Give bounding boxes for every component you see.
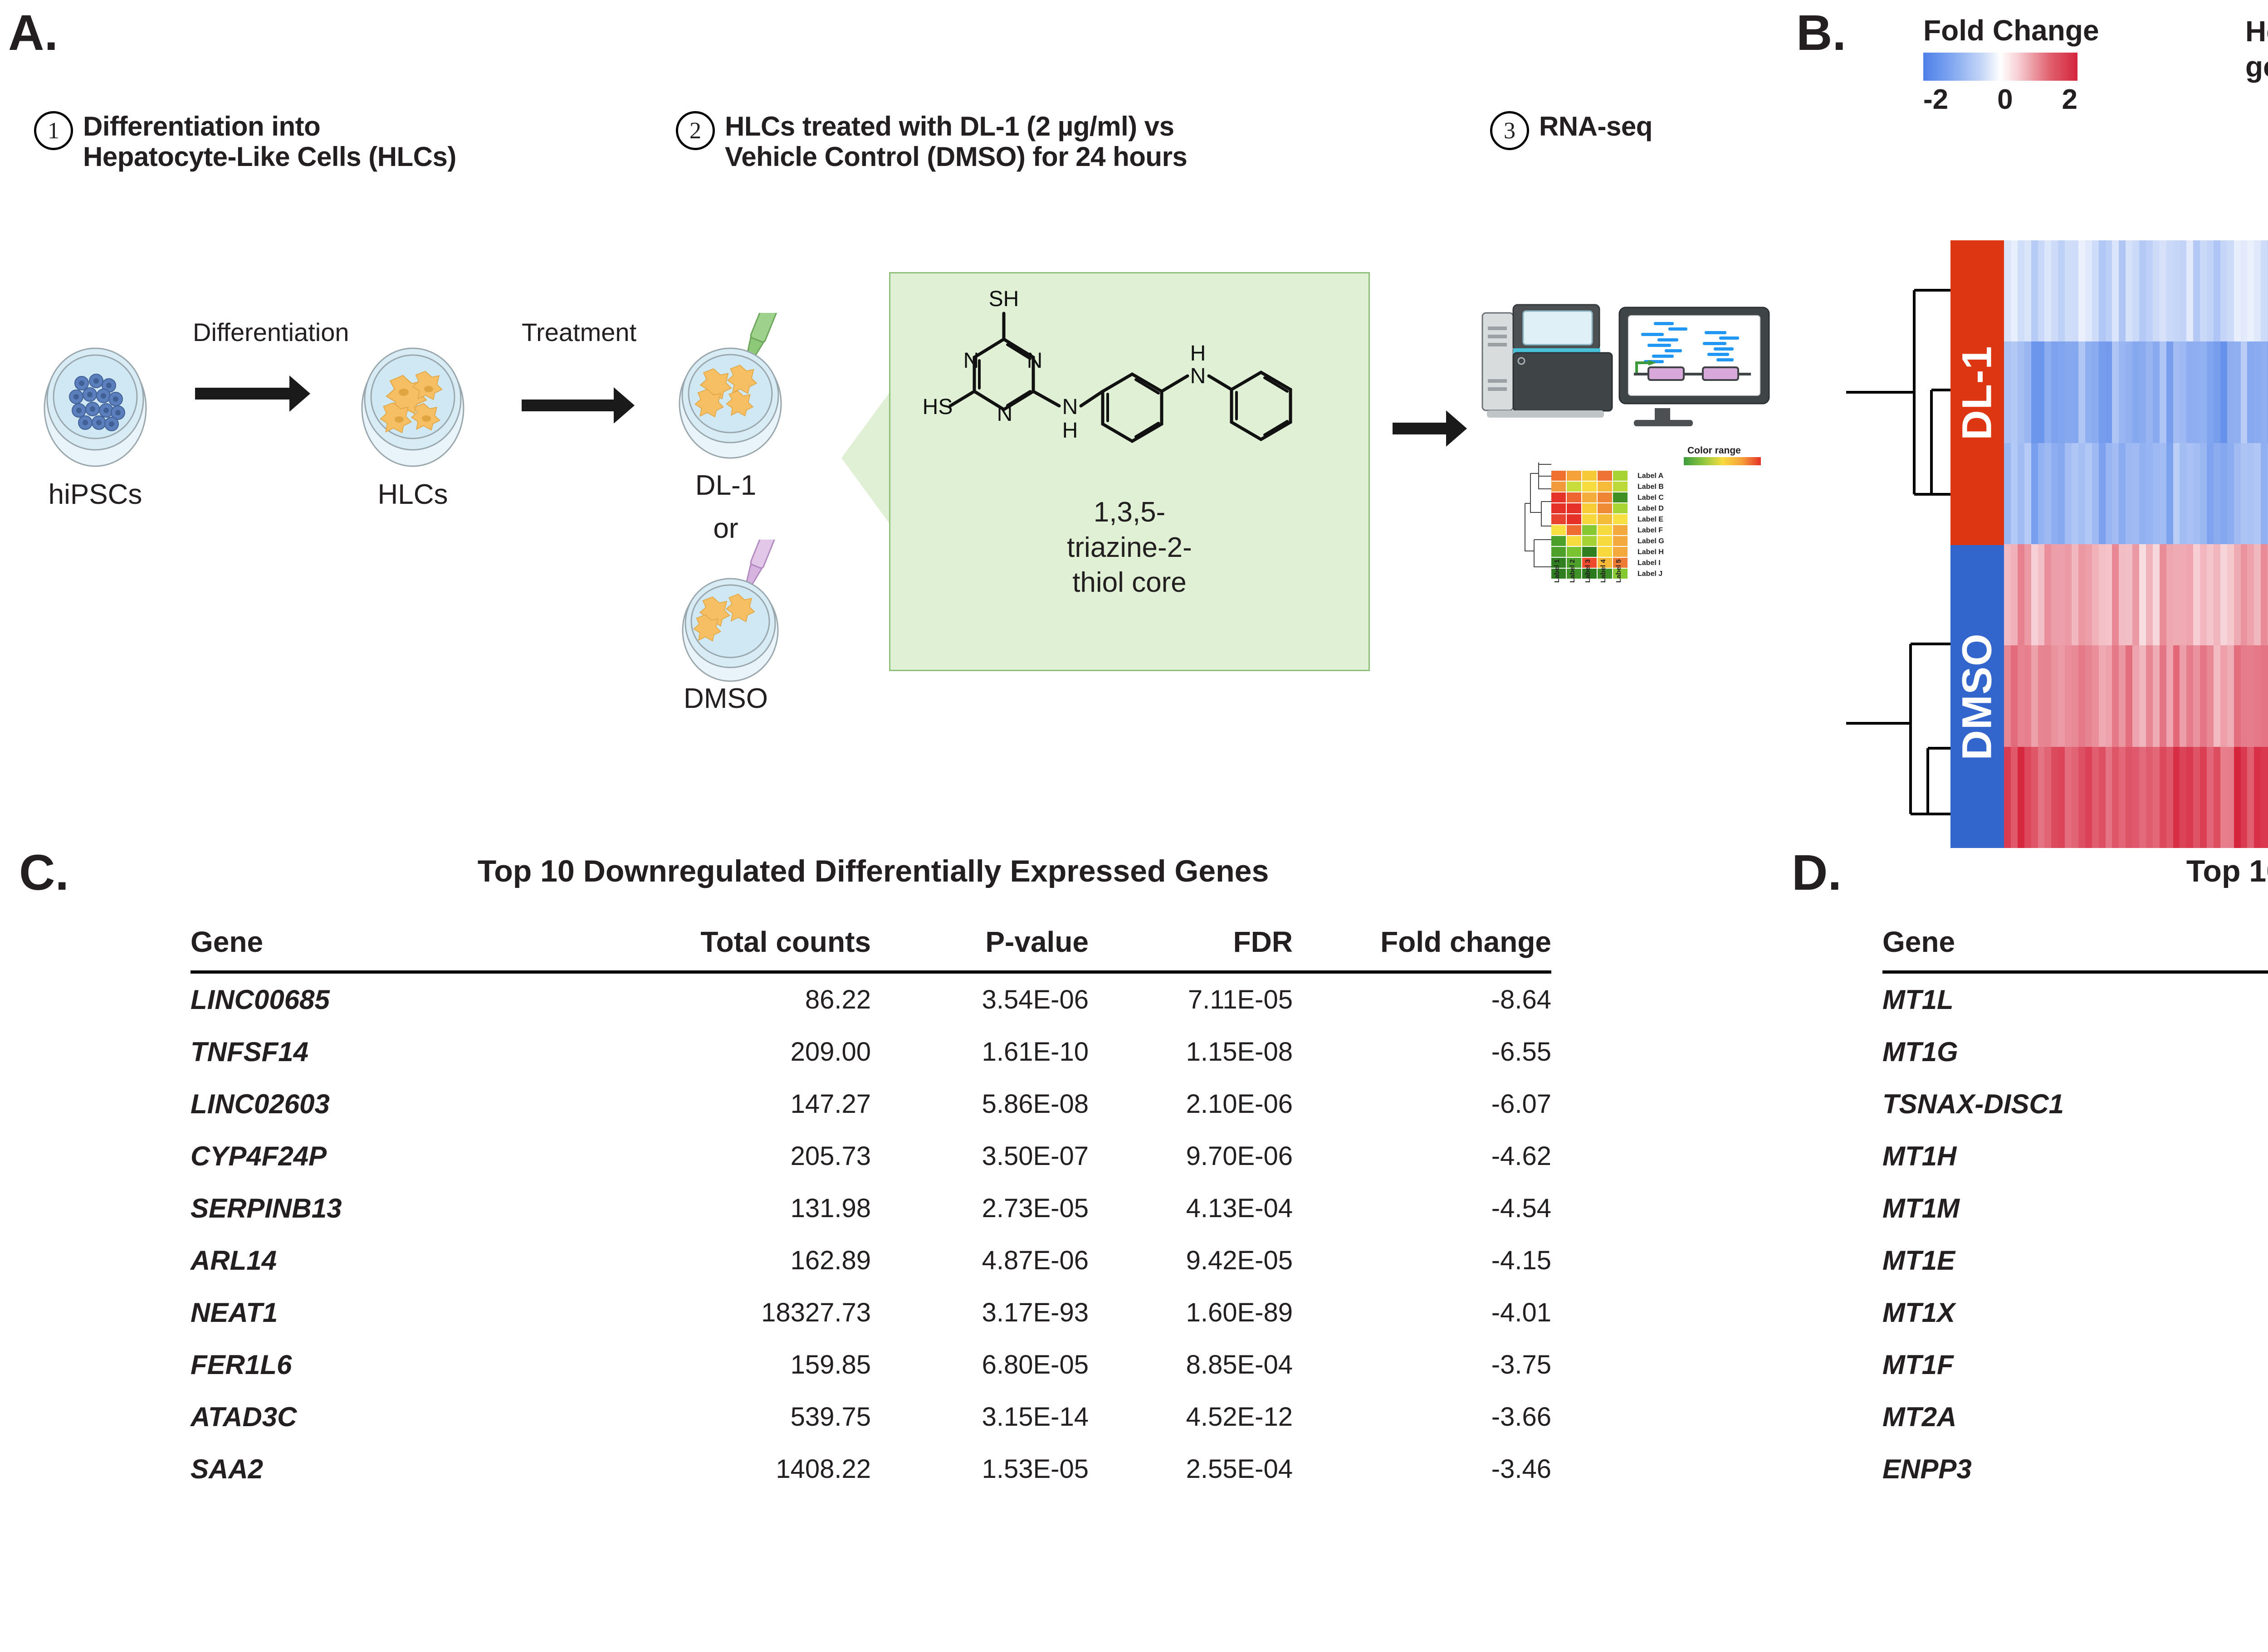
step-1-number: 1 <box>34 111 73 150</box>
table-row: MT1H695.402.51E-393.45E-3621.36 <box>1882 1130 2268 1182</box>
downregulated-table: Gene Total counts P-value FDR Fold chang… <box>191 925 1551 1495</box>
atom-sh-top: SH <box>989 287 1019 311</box>
table-row: SAA21408.221.53E-052.55E-04-3.46 <box>191 1443 1551 1495</box>
table-row: MT1E592.923.80E-262.73E-237.21 <box>1882 1234 2268 1287</box>
cell-gene: ENPP3 <box>1882 1443 2268 1495</box>
cell-fdr: 7.11E-05 <box>1089 972 1293 1026</box>
cell-fdr: 2.10E-06 <box>1089 1078 1293 1130</box>
dish-dl1 <box>644 313 835 467</box>
cell-total-counts: 131.98 <box>599 1182 871 1234</box>
step-3-text: RNA-seq <box>1539 111 1652 141</box>
panel-a-workflow: A. 1 Differentiation into Hepatocyte-Lik… <box>0 0 1814 816</box>
cell-gene: NEAT1 <box>191 1287 599 1339</box>
cell-fold-change: -4.15 <box>1293 1234 1551 1287</box>
dish-hlcs-label: HLCs <box>336 478 490 511</box>
atom-h-link: H <box>1062 419 1078 443</box>
dish-hipscs <box>18 336 172 472</box>
mini-heatmap-row-label: Label E <box>1637 516 1663 524</box>
heatmap-row <box>2004 341 2268 443</box>
mini-heatmap-legend-title: Color range <box>1687 445 1741 456</box>
cell-fdr: 2.55E-04 <box>1089 1443 1293 1495</box>
mini-heatmap-colorbar <box>1684 457 1761 465</box>
arrow-differentiation-label: Differentiation <box>193 317 349 347</box>
table-row: MT1X831.313.02E-333.51E-306.89 <box>1882 1287 2268 1339</box>
mini-heatmap-col-label: Label 3 <box>1584 559 1592 583</box>
cell-p-value: 3.15E-14 <box>871 1391 1089 1443</box>
mini-heatmap-row-label: Label G <box>1637 537 1664 546</box>
table-row: ARL14162.894.87E-069.42E-05-4.15 <box>191 1234 1551 1287</box>
table-row: ENPP3166.092.89E-065.99E-054.51 <box>1882 1443 2268 1495</box>
arrow-to-rnaseq-icon <box>1393 423 1447 434</box>
mini-heatmap-row-label: Label H <box>1637 548 1664 556</box>
mini-heatmap-row-label: Label D <box>1637 505 1664 513</box>
cell-fold-change: -6.07 <box>1293 1078 1551 1130</box>
panel-b-label: B. <box>1796 8 1846 58</box>
atom-n-bottom: N <box>997 402 1013 426</box>
table-row: MT2A2968.832.54E-769.60E-735.09 <box>1882 1391 2268 1443</box>
cell-fold-change: -3.66 <box>1293 1391 1551 1443</box>
cell-fdr: 1.60E-89 <box>1089 1287 1293 1339</box>
cell-p-value: 5.86E-08 <box>871 1078 1089 1130</box>
downregulated-table-title: Top 10 Downregulated Differentially Expr… <box>181 853 1565 889</box>
triazine-structure-icon: SH HS N N N N H N H <box>890 278 1371 491</box>
fold-change-legend: Fold Change -2 0 2 <box>1923 14 2099 116</box>
cell-total-counts: 147.27 <box>599 1078 871 1130</box>
cell-fold-change: -4.62 <box>1293 1130 1551 1182</box>
table-row: LINC02603147.275.86E-082.10E-06-6.07 <box>191 1078 1551 1130</box>
col-header-fdr: FDR <box>1089 925 1293 972</box>
heatmap-title: Heatmap showing 182 differentially expre… <box>2245 14 2268 84</box>
cell-fold-change: -8.64 <box>1293 972 1551 1026</box>
panel-d-label: D. <box>1792 848 1842 898</box>
petri-dish-icon <box>18 336 172 472</box>
col-header-gene: Gene <box>191 925 599 972</box>
table-row: LINC0068586.223.54E-067.11E-05-8.64 <box>191 972 1551 1026</box>
cell-fold-change: -4.54 <box>1293 1182 1551 1234</box>
cell-gene: TSNAX-DISC1 <box>1882 1078 2268 1130</box>
cell-p-value: 3.54E-06 <box>871 972 1089 1026</box>
heatmap-grid <box>2004 240 2268 848</box>
dish-dmso <box>644 540 835 694</box>
cell-gene: TNFSF14 <box>191 1026 599 1078</box>
cell-total-counts: 539.75 <box>599 1391 871 1443</box>
cell-fold-change: -6.55 <box>1293 1026 1551 1078</box>
cell-p-value: 6.80E-05 <box>871 1339 1089 1391</box>
mini-heatmap-row-label: Label J <box>1637 570 1662 578</box>
col-header-pvalue: P-value <box>871 925 1089 972</box>
fold-change-ticks: -2 0 2 <box>1923 83 2077 116</box>
dish-hipscs-label: hiPSCs <box>18 478 172 511</box>
group-band-dmso-label: DMSO <box>1954 633 2001 760</box>
cell-total-counts: 205.73 <box>599 1130 871 1182</box>
sample-dendrogram <box>1846 240 1950 848</box>
upregulated-table-title: Top 10 Upregulated Differentially Expres… <box>1873 853 2268 889</box>
panel-b-heatmap: B. Fold Change -2 0 2 Heatmap showing 18… <box>1792 0 2268 862</box>
mini-heatmap-row-label: Label B <box>1637 483 1664 491</box>
atom-n-left: N <box>963 349 979 373</box>
cell-fold-change: -3.75 <box>1293 1339 1551 1391</box>
cell-total-counts: 162.89 <box>599 1234 871 1287</box>
cell-gene: MT1F <box>1882 1339 2268 1391</box>
atom-n-aniline: N <box>1190 364 1206 388</box>
cell-gene: SAA2 <box>191 1443 599 1495</box>
mini-heatmap-row-label: Label I <box>1637 559 1661 567</box>
step-3-number: 3 <box>1490 111 1529 150</box>
heatmap-row <box>2004 544 2268 645</box>
cell-total-counts: 159.85 <box>599 1339 871 1391</box>
table-header-row: Gene Total counts P-value FDR Fold chang… <box>191 925 1551 972</box>
cell-gene: FER1L6 <box>191 1339 599 1391</box>
arrow-differentiation-icon <box>195 388 290 400</box>
cell-p-value: 4.87E-06 <box>871 1234 1089 1287</box>
cell-total-counts: 1408.22 <box>599 1443 871 1495</box>
step-2-number: 2 <box>676 111 715 150</box>
pipette-purple-icon <box>644 540 835 694</box>
mini-heatmap-col-label: Label 1 <box>1553 559 1561 583</box>
atom-n-right: N <box>1027 349 1043 373</box>
cell-p-value: 1.61E-10 <box>871 1026 1089 1078</box>
cell-fdr: 9.70E-06 <box>1089 1130 1293 1182</box>
chem-callout-box: SH HS N N N N H N H 1,3,5- triazine-2- t… <box>889 272 1370 671</box>
arrow-treatment-label: Treatment <box>522 317 636 347</box>
fold-change-legend-title: Fold Change <box>1923 14 2099 47</box>
table-row: MT1M82.331.46E-063.29E-0512.70 <box>1882 1182 2268 1234</box>
panel-c-label: C. <box>19 848 69 898</box>
cell-gene: MT1L <box>1882 972 2268 1026</box>
cell-gene: MT2A <box>1882 1391 2268 1443</box>
mini-heatmap-illustration: Color range Label ALabel BLabel CLabel D… <box>1551 449 1792 639</box>
fc-tick-max: 2 <box>2062 83 2077 116</box>
table-row: FER1L6159.856.80E-058.85E-04-3.75 <box>191 1339 1551 1391</box>
cell-fdr: 4.13E-04 <box>1089 1182 1293 1234</box>
workflow-step-1: 1 Differentiation into Hepatocyte-Like C… <box>34 111 456 172</box>
dish-dmso-label: DMSO <box>644 682 807 715</box>
cell-gene: MT1H <box>1882 1130 2268 1182</box>
heatmap-row <box>2004 645 2268 746</box>
heatmap-row <box>2004 747 2268 848</box>
step-2-text: HLCs treated with DL-1 (2 µg/ml) vs Vehi… <box>725 111 1187 172</box>
pipette-green-icon <box>644 313 835 467</box>
table-row: MT1G2422.435.81E-1288.77E-12426.77 <box>1882 1026 2268 1078</box>
cell-gene: MT1X <box>1882 1287 2268 1339</box>
cell-p-value: 1.53E-05 <box>871 1443 1089 1495</box>
mini-heatmap-row-label: Label F <box>1637 526 1663 535</box>
chem-core-label: 1,3,5- triazine-2- thiol core <box>890 495 1369 600</box>
cell-fdr: 9.42E-05 <box>1089 1234 1293 1287</box>
mini-heatmap-dendrogram <box>1520 458 1552 594</box>
cell-gene: ARL14 <box>191 1234 599 1287</box>
heatmap-row <box>2004 240 2268 341</box>
cell-total-counts: 18327.73 <box>599 1287 871 1339</box>
cell-gene: LINC00685 <box>191 972 599 1026</box>
table-row: MT1F1503.852.92E-506.30E-476.35 <box>1882 1339 2268 1391</box>
cell-p-value: 3.17E-93 <box>871 1287 1089 1339</box>
fc-tick-min: -2 <box>1923 83 1948 116</box>
table-row: MT1L65.471.75E-052.84E-0431.62 <box>1882 972 2268 1026</box>
sequencer-and-monitor <box>1474 254 1792 444</box>
table-row: SERPINB13131.982.73E-054.13E-04-4.54 <box>191 1182 1551 1234</box>
atom-h-aniline: H <box>1190 341 1206 365</box>
group-band-dl1: DL-1 <box>1950 240 2004 545</box>
col-header-gene: Gene <box>1882 925 2268 972</box>
col-header-fold: Fold change <box>1293 925 1551 972</box>
cell-fdr: 4.52E-12 <box>1089 1391 1293 1443</box>
mini-heatmap-col-label: Label 2 <box>1569 559 1576 583</box>
sequencer-icon <box>1474 254 1792 444</box>
workflow-step-3: 3 RNA-seq <box>1490 111 1652 150</box>
table-row: TNFSF14209.001.61E-101.15E-08-6.55 <box>191 1026 1551 1078</box>
cell-gene: SERPINB13 <box>191 1182 599 1234</box>
mini-heatmap-row-label: Label C <box>1637 494 1664 502</box>
upregulated-table: Gene Total counts P-value FDR Fold chang… <box>1882 925 2268 1495</box>
cell-gene: LINC02603 <box>191 1078 599 1130</box>
cell-gene: MT1G <box>1882 1026 2268 1078</box>
arrow-treatment-icon <box>522 400 615 411</box>
atom-hs-left: HS <box>923 395 953 419</box>
mini-heatmap-col-label: Label 5 <box>1615 559 1623 583</box>
table-row: NEAT118327.733.17E-931.60E-89-4.01 <box>191 1287 1551 1339</box>
cell-fdr: 1.15E-08 <box>1089 1026 1293 1078</box>
cell-fdr: 8.85E-04 <box>1089 1339 1293 1391</box>
cell-p-value: 3.50E-07 <box>871 1130 1089 1182</box>
cell-gene: MT1E <box>1882 1234 2268 1287</box>
callout-pointer <box>841 390 891 526</box>
cell-total-counts: 209.00 <box>599 1026 871 1078</box>
cell-total-counts: 86.22 <box>599 972 871 1026</box>
heatmap-row <box>2004 443 2268 544</box>
step-1-text: Differentiation into Hepatocyte-Like Cel… <box>83 111 456 172</box>
mini-heatmap-row-label: Label A <box>1637 472 1663 480</box>
table-row: TSNAX-DISC179.211.66E-052.73E-0425.27 <box>1882 1078 2268 1130</box>
fold-change-colorbar <box>1923 53 2077 81</box>
cell-gene: MT1M <box>1882 1182 2268 1234</box>
cell-fold-change: -3.46 <box>1293 1443 1551 1495</box>
cell-gene: CYP4F24P <box>191 1130 599 1182</box>
panel-a-label: A. <box>8 8 58 58</box>
group-band-dl1-label: DL-1 <box>1954 346 2001 440</box>
mini-heatmap-col-label: Label 4 <box>1599 559 1607 583</box>
fc-tick-mid: 0 <box>1997 83 2013 116</box>
atom-n-link: N <box>1062 395 1078 419</box>
workflow-step-2: 2 HLCs treated with DL-1 (2 µg/ml) vs Ve… <box>676 111 1187 172</box>
table-row: ATAD3C539.753.15E-144.52E-12-3.66 <box>191 1391 1551 1443</box>
dish-dl1-label: DL-1 <box>644 469 807 502</box>
cell-fold-change: -4.01 <box>1293 1287 1551 1339</box>
petri-dish-icon <box>336 336 490 472</box>
cell-p-value: 2.73E-05 <box>871 1182 1089 1234</box>
table-header-row: Gene Total counts P-value FDR Fold chang… <box>1882 925 2268 972</box>
group-band-dmso: DMSO <box>1950 545 2004 848</box>
cell-gene: ATAD3C <box>191 1391 599 1443</box>
table-row: CYP4F24P205.733.50E-079.70E-06-4.62 <box>191 1130 1551 1182</box>
dish-hlcs <box>336 336 490 472</box>
col-header-counts: Total counts <box>599 925 871 972</box>
